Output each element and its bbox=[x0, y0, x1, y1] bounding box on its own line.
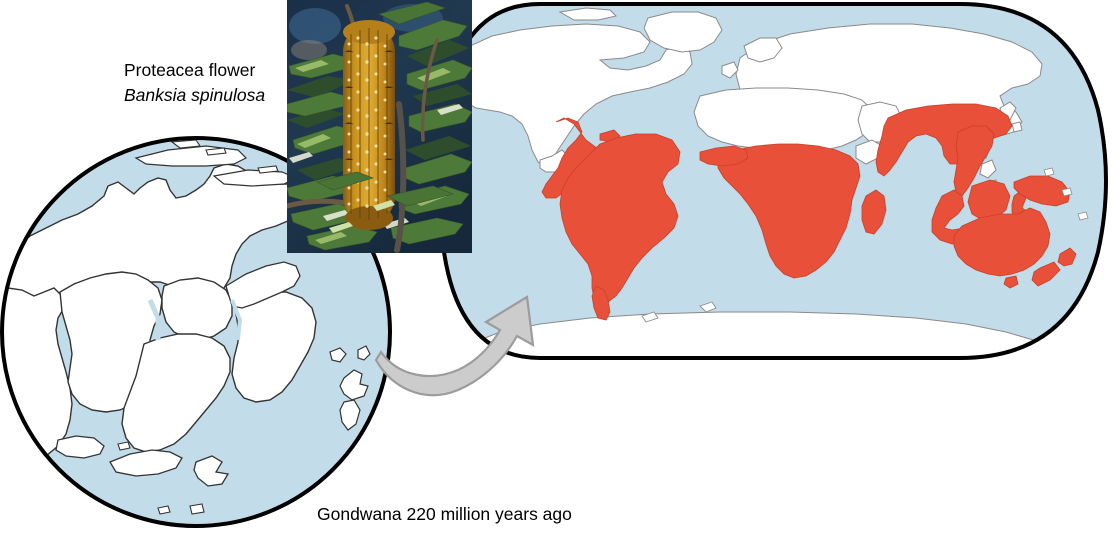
arrow-shape bbox=[376, 297, 533, 395]
flower-scientific-name: Banksia spinulosa bbox=[124, 83, 265, 108]
figure-canvas: Proteacea flower Banksia spinulosa Gondw… bbox=[0, 0, 1118, 537]
banksia-spinulosa-photo bbox=[287, 0, 472, 253]
flower-common-name: Proteacea flower bbox=[124, 58, 265, 83]
flower-label: Proteacea flower Banksia spinulosa bbox=[124, 58, 265, 108]
photo-illustration bbox=[287, 0, 472, 253]
photo-sky-patch bbox=[289, 8, 341, 44]
gondwana-caption: Gondwana 220 million years ago bbox=[317, 504, 572, 525]
